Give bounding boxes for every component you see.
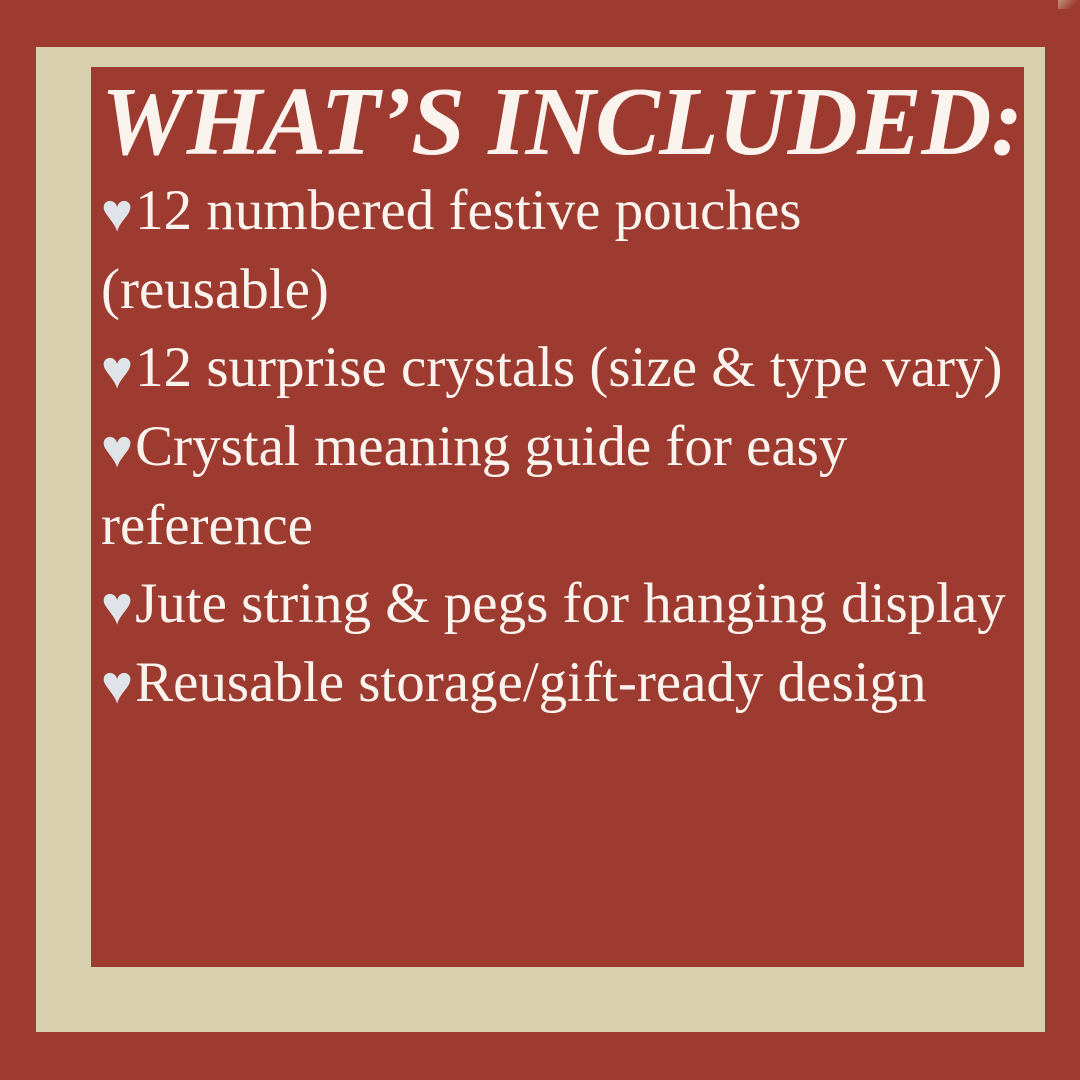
list-item-label: Crystal meaning guide for easy reference bbox=[101, 415, 847, 557]
heart-icon: ♥ bbox=[101, 183, 135, 243]
list-item-label: 12 numbered festive pouches (reusable) bbox=[101, 179, 801, 321]
heart-icon: ♥ bbox=[101, 419, 135, 479]
list-item: ♥12 surprise crystals (size & type vary) bbox=[101, 329, 1018, 408]
included-items-list: ♥12 numbered festive pouches (reusable) … bbox=[101, 172, 1018, 723]
list-item: ♥Jute string & pegs for hanging display bbox=[101, 565, 1018, 644]
list-item-label: Jute string & pegs for hanging display bbox=[135, 572, 1006, 635]
heart-icon: ♥ bbox=[101, 576, 135, 636]
beige-frame-border: WHAT’S INCLUDED: ♥12 numbered festive po… bbox=[36, 47, 1045, 1032]
heart-icon: ♥ bbox=[101, 340, 135, 400]
list-item: ♥Reusable storage/gift-ready design bbox=[101, 644, 1018, 723]
corner-artifact bbox=[1058, 0, 1080, 9]
page-title: WHAT’S INCLUDED: bbox=[101, 73, 1018, 172]
heart-icon: ♥ bbox=[101, 655, 135, 715]
card-content: WHAT’S INCLUDED: ♥12 numbered festive po… bbox=[91, 67, 1024, 967]
list-item-label: 12 surprise crystals (size & type vary) bbox=[135, 336, 1002, 399]
list-item: ♥Crystal meaning guide for easy referenc… bbox=[101, 408, 1018, 565]
promo-card-canvas: WHAT’S INCLUDED: ♥12 numbered festive po… bbox=[0, 0, 1080, 1080]
list-item-label: Reusable storage/gift-ready design bbox=[135, 651, 926, 714]
inner-red-panel: WHAT’S INCLUDED: ♥12 numbered festive po… bbox=[91, 67, 1024, 967]
list-item: ♥12 numbered festive pouches (reusable) bbox=[101, 172, 1018, 329]
